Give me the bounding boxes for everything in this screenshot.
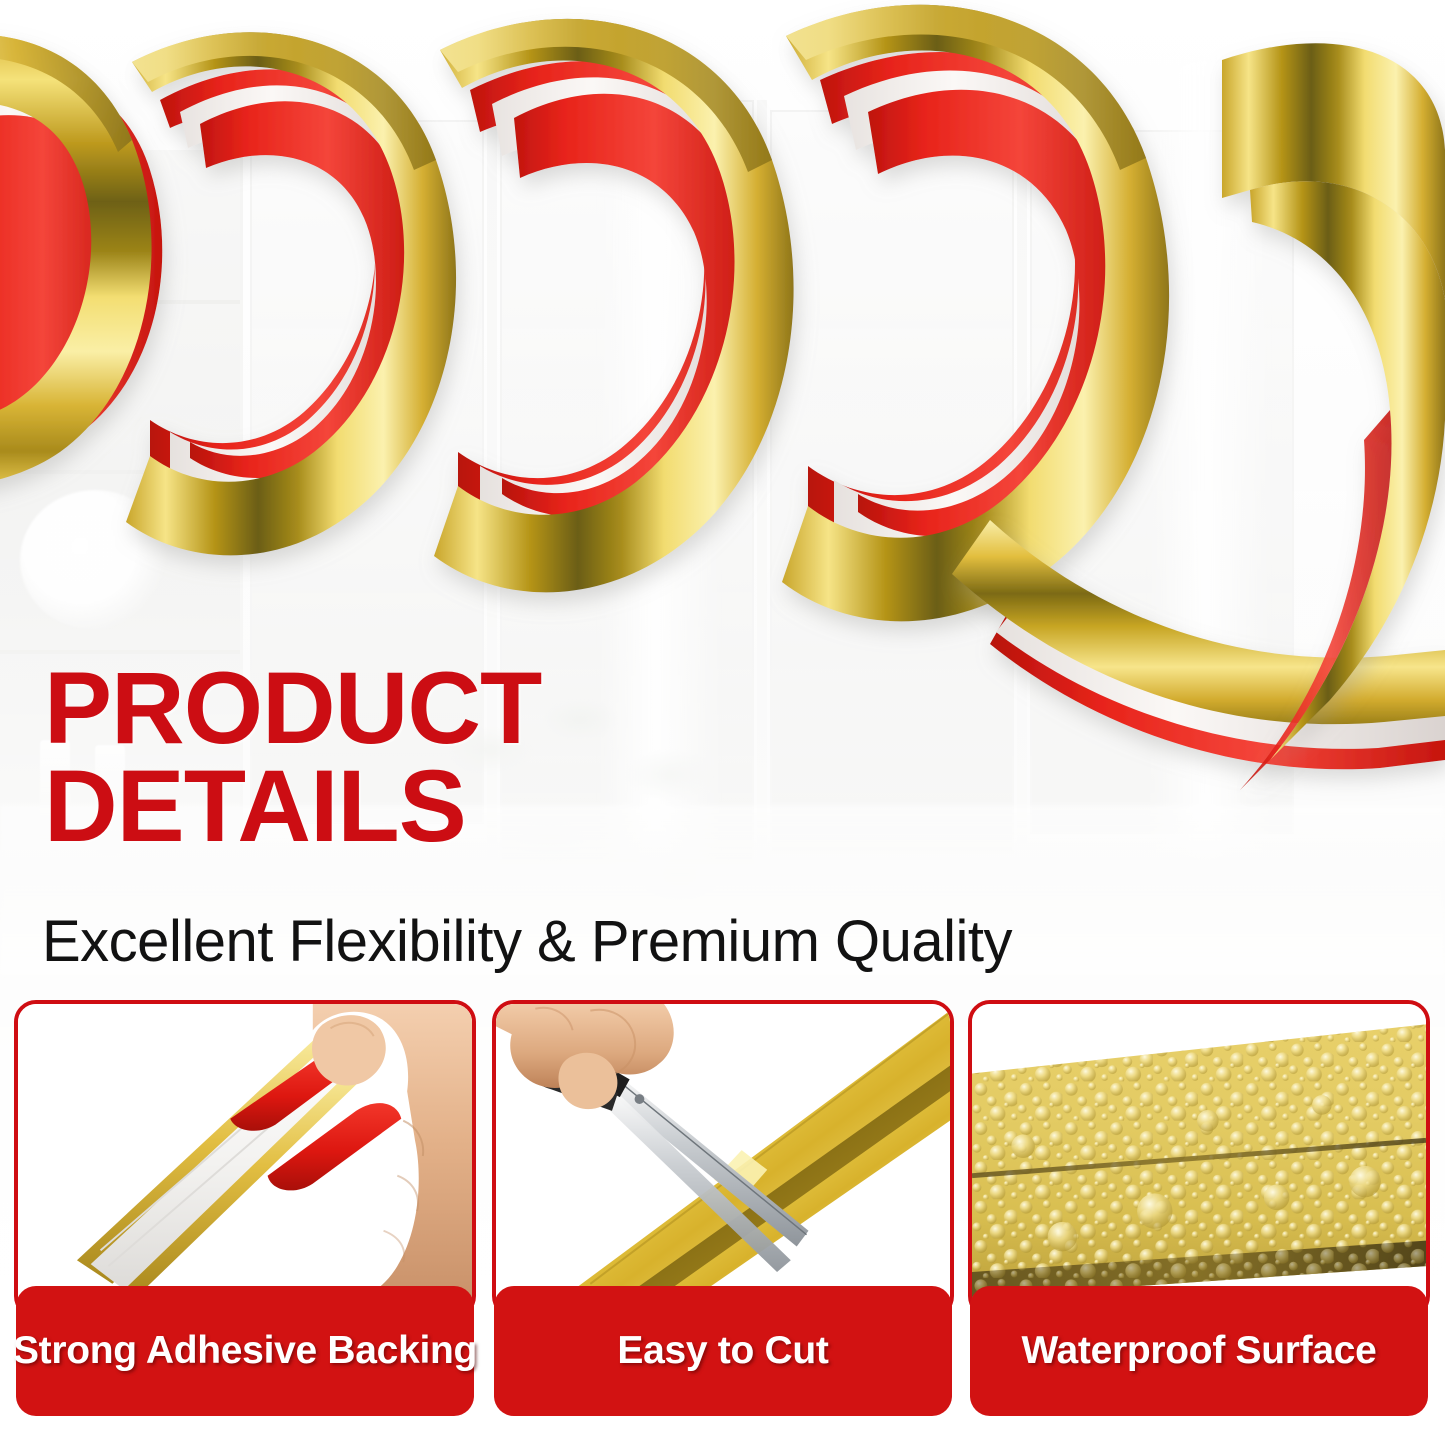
feature-image-hand-peeling-adhesive: [14, 1000, 476, 1318]
feature-image-scissors-cutting-trim: [492, 1000, 954, 1318]
headline-line-2: DETAILS: [44, 758, 944, 856]
page-subtitle: Excellent Flexibility & Premium Quality: [42, 908, 1012, 975]
feature-card-waterproof-surface[interactable]: Waterproof Surface: [968, 1000, 1430, 1418]
feature-image-water-droplets-on-gold: [968, 1000, 1430, 1318]
product-details-infographic: PRODUCT DETAILS Excellent Flexibility & …: [0, 0, 1445, 1445]
feature-caption-easy-to-cut: Easy to Cut: [494, 1286, 952, 1416]
feature-panel-row: Strong Adhesive Backing: [0, 1000, 1445, 1430]
coil-loop-3: [434, 19, 794, 592]
coil-loop-4: [782, 5, 1169, 622]
coil-loop-1: [0, 34, 162, 487]
headline-line-1: PRODUCT: [44, 660, 944, 758]
coil-loop-2: [126, 32, 456, 555]
page-title: PRODUCT DETAILS: [44, 660, 944, 856]
feature-card-easy-to-cut[interactable]: Easy to Cut: [492, 1000, 954, 1418]
feature-caption-waterproof-surface: Waterproof Surface: [970, 1286, 1428, 1416]
feature-card-strong-adhesive-backing[interactable]: Strong Adhesive Backing: [14, 1000, 476, 1418]
feature-caption-strong-adhesive-backing: Strong Adhesive Backing: [16, 1286, 474, 1416]
